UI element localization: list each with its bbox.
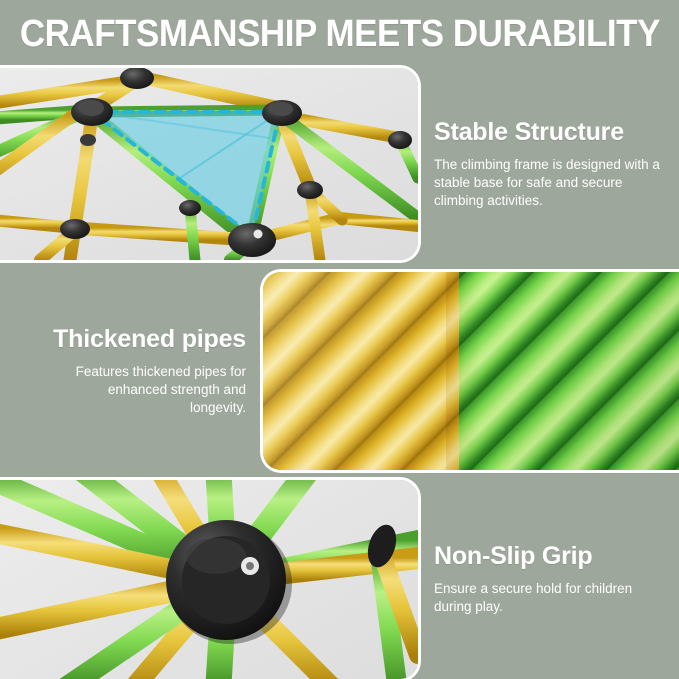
climbing-dome-frame-photo	[0, 68, 418, 260]
thickened-pipes-closeup-photo	[263, 272, 679, 470]
feature-row-non-slip-grip: Non-Slip Grip Ensure a secure hold for c…	[0, 480, 679, 679]
caption-non-slip-grip: Non-Slip Grip Ensure a secure hold for c…	[434, 480, 666, 679]
page-title-text: CRAFTSMANSHIP MEETS DURABILITY	[19, 13, 659, 56]
caption-thickened-pipes: Thickened pipes Features thickened pipes…	[14, 272, 246, 470]
pipe-sheen-overlay	[263, 272, 679, 470]
dome-illustration	[0, 68, 418, 260]
feature-heading-non-slip-grip: Non-Slip Grip	[434, 542, 666, 571]
feature-row-stable-structure: Stable Structure The climbing frame is d…	[0, 68, 679, 260]
feature-body-stable-structure: The climbing frame is designed with a st…	[434, 156, 666, 211]
feature-heading-thickened-pipes: Thickened pipes	[53, 325, 246, 354]
caption-stable-structure: Stable Structure The climbing frame is d…	[434, 68, 666, 260]
page-title: CRAFTSMANSHIP MEETS DURABILITY	[0, 0, 679, 68]
hub-illustration	[0, 480, 418, 679]
feature-body-thickened-pipes: Features thickened pipes for enhanced st…	[56, 363, 246, 418]
hub-connector-closeup-photo	[0, 480, 418, 679]
feature-row-thickened-pipes: Thickened pipes Features thickened pipes…	[0, 272, 679, 470]
feature-heading-stable-structure: Stable Structure	[434, 118, 666, 147]
feature-body-non-slip-grip: Ensure a secure hold for children during…	[434, 580, 666, 616]
